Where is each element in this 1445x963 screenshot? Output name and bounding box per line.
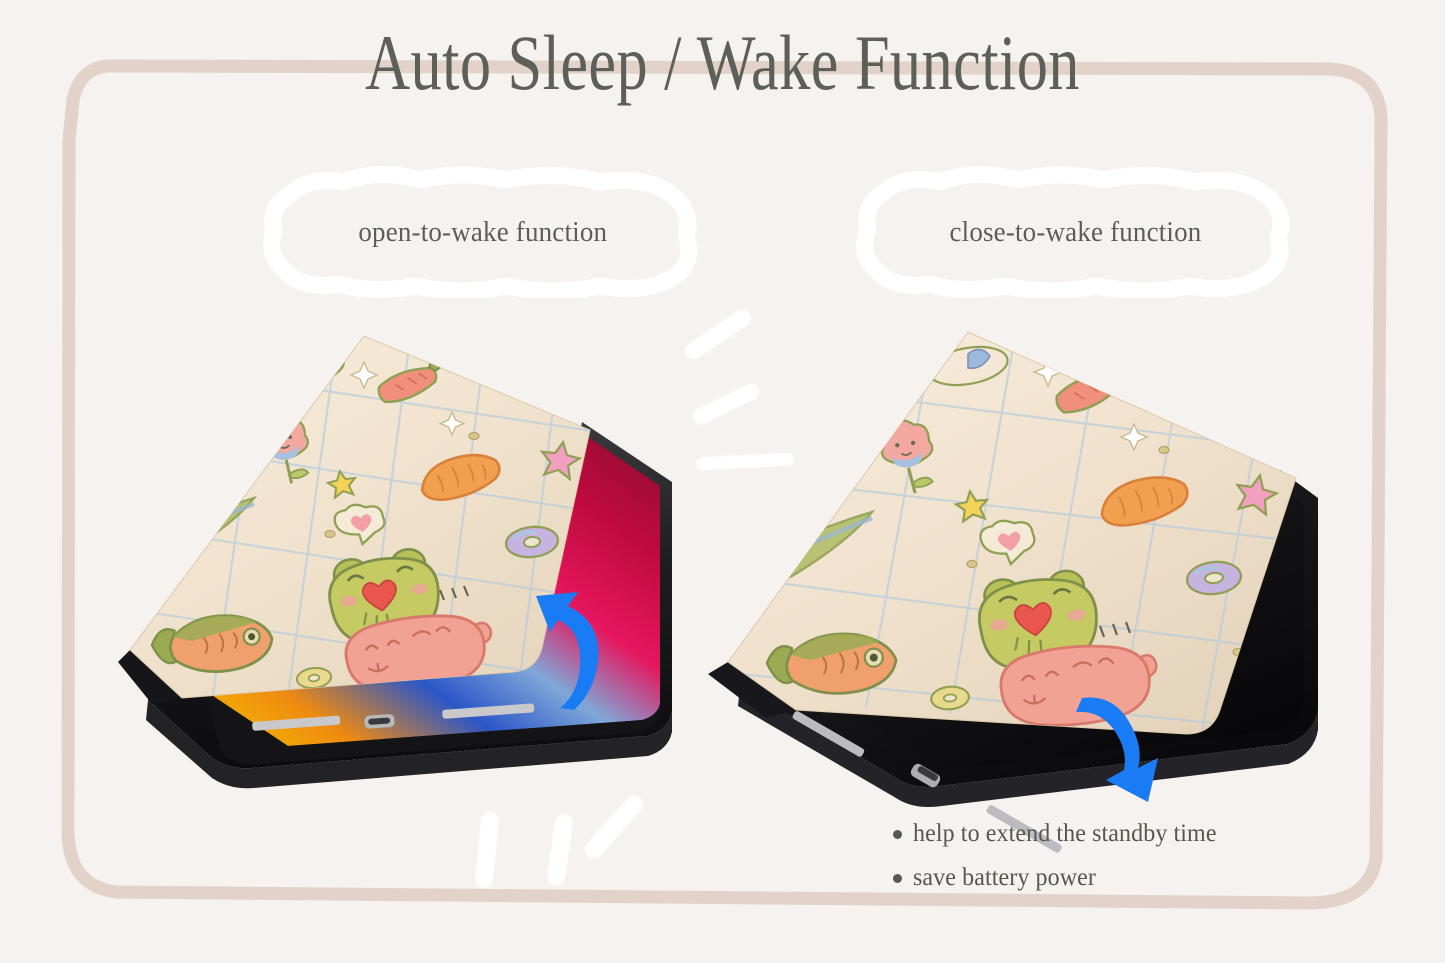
motion-stroke xyxy=(581,792,647,862)
benefit-text: save battery power xyxy=(913,864,1096,892)
popsicle-sticker xyxy=(1217,351,1277,435)
bullet-dot-icon xyxy=(893,830,902,839)
tablet-case-closing[interactable] xyxy=(700,310,1380,810)
usb-c-port xyxy=(364,714,395,729)
list-item: help to extend the standby time xyxy=(893,820,1313,848)
popsicle-sticker xyxy=(524,336,579,412)
motion-stroke xyxy=(546,813,574,887)
page-title: Auto Sleep / Wake Function xyxy=(145,22,1301,104)
motion-strokes-bottom xyxy=(438,786,668,896)
caption-bubble-close-to-wake: close-to-wake function xyxy=(840,166,1310,298)
benefits-list: help to extend the standby time save bat… xyxy=(893,820,1313,908)
caption-label-left: open-to-wake function xyxy=(359,216,608,249)
caption-label-right: close-to-wake function xyxy=(949,216,1201,249)
case-cover-right xyxy=(714,310,1308,734)
promo-canvas: Auto Sleep / Wake Function open-to-wake … xyxy=(0,0,1445,963)
tablet-case-open[interactable] xyxy=(112,318,732,798)
caption-bubble-open-to-wake: open-to-wake function xyxy=(248,166,718,298)
benefit-text: help to extend the standby time xyxy=(913,820,1217,848)
motion-stroke xyxy=(474,811,500,888)
case-cover-left xyxy=(120,312,612,702)
list-item: save battery power xyxy=(893,864,1313,892)
bullet-dot-icon xyxy=(893,874,902,883)
